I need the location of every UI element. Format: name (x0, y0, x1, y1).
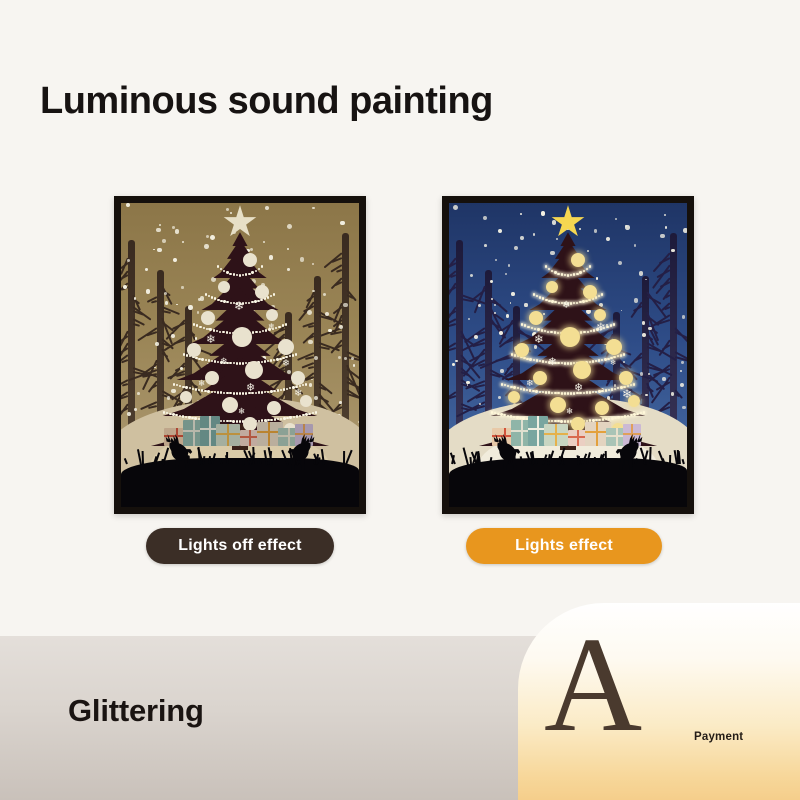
string-light (583, 270, 585, 272)
tree-bauble (606, 339, 622, 355)
string-light (261, 361, 263, 363)
snow-particle (312, 207, 314, 209)
gift-ribbon (537, 416, 539, 446)
foreground-base (121, 480, 359, 507)
payment-letter-a: A (544, 617, 642, 753)
string-light (586, 268, 588, 270)
string-light (273, 293, 275, 295)
string-light (548, 420, 550, 422)
string-light (173, 383, 175, 385)
string-light (208, 359, 210, 361)
tree-bauble (571, 417, 585, 431)
string-light (551, 300, 553, 302)
string-light (534, 328, 536, 330)
deer-silhouette (487, 428, 525, 474)
string-light (196, 324, 198, 326)
string-light (636, 413, 638, 415)
string-light (519, 417, 521, 419)
string-light (526, 389, 528, 391)
string-light (598, 295, 600, 297)
string-light (226, 392, 228, 394)
string-light (554, 420, 556, 422)
string-light (179, 385, 181, 387)
string-light (633, 383, 635, 385)
snow-particle (660, 234, 664, 238)
string-light (251, 301, 253, 303)
tree-bauble (508, 391, 520, 403)
string-light (613, 323, 615, 325)
string-light (172, 413, 174, 415)
string-light (598, 359, 600, 361)
string-light (185, 416, 187, 418)
string-light (582, 300, 584, 302)
snow-particle (682, 406, 685, 409)
gift-ribbon (555, 424, 557, 446)
grass-blade (605, 451, 607, 464)
footer-band-label: Glittering (68, 693, 204, 729)
string-light (623, 353, 625, 355)
tree-bauble (222, 397, 238, 413)
string-light (511, 353, 513, 355)
string-light (500, 413, 502, 415)
tree-bauble (583, 285, 597, 299)
string-light (305, 383, 307, 385)
string-light (280, 389, 282, 391)
string-light (286, 388, 288, 390)
string-light (254, 300, 256, 302)
snow-particle (671, 392, 675, 396)
string-light (604, 358, 606, 360)
tree-bauble (515, 343, 529, 357)
string-light (513, 386, 515, 388)
snowflake-icon: ❄ (268, 323, 275, 331)
snow-particle (137, 392, 140, 395)
string-light (624, 415, 626, 417)
string-light (201, 389, 203, 391)
promo-page: Luminous sound painting ❄❄❄❄❄❄❄❄❄❄ (0, 0, 800, 800)
string-light (166, 412, 168, 414)
string-light (510, 415, 512, 417)
string-light (258, 268, 260, 270)
snowflake-icon: ❄ (562, 301, 570, 311)
string-light (193, 323, 195, 325)
string-light (532, 390, 534, 392)
snow-particle (339, 401, 342, 404)
string-light (270, 295, 272, 297)
tree-bauble (533, 371, 547, 385)
string-light (273, 359, 275, 361)
string-light (554, 331, 556, 333)
string-light (608, 389, 610, 391)
string-light (229, 392, 231, 394)
string-light (278, 326, 280, 328)
string-light (223, 300, 225, 302)
gift-ribbon (268, 422, 270, 446)
string-light (640, 412, 642, 414)
string-light (557, 273, 559, 275)
string-light (230, 302, 232, 304)
string-light (222, 331, 224, 333)
string-light (557, 392, 559, 394)
string-light (598, 390, 600, 392)
string-light (273, 390, 275, 392)
string-light (226, 331, 228, 333)
string-light (589, 265, 591, 267)
string-light (548, 268, 550, 270)
string-light (214, 391, 216, 393)
string-light (315, 411, 317, 413)
snowflake-icon: ❄ (622, 389, 632, 401)
string-light (276, 358, 278, 360)
string-light (206, 328, 208, 330)
snow-particle (344, 357, 347, 360)
snow-particle (683, 228, 687, 233)
snowflake-icon: ❄ (526, 379, 534, 388)
snowflake-icon: ❄ (282, 359, 290, 369)
snowflake-icon: ❄ (596, 323, 606, 335)
string-light (529, 358, 531, 360)
string-light (274, 418, 276, 420)
string-light (289, 387, 291, 389)
tree-bauble (573, 361, 591, 379)
tree-bauble (243, 253, 257, 267)
artwork-lights-off: ❄❄❄❄❄❄❄❄❄❄ (121, 203, 359, 507)
string-light (602, 418, 604, 420)
string-light (504, 384, 506, 386)
string-light (523, 388, 525, 390)
string-light (533, 293, 535, 295)
string-light (205, 359, 207, 361)
string-light (585, 300, 587, 302)
string-light (176, 384, 178, 386)
string-light (611, 417, 613, 419)
tree-bauble (201, 311, 215, 325)
string-light (220, 420, 222, 422)
string-light (533, 359, 535, 361)
string-light (289, 416, 291, 418)
string-light (548, 300, 550, 302)
string-light (299, 415, 301, 417)
string-light (305, 413, 307, 415)
string-light (516, 416, 518, 418)
string-light (539, 296, 541, 298)
string-light (494, 412, 496, 414)
string-light (226, 301, 228, 303)
grass-blade (237, 459, 239, 465)
tree-bauble (594, 309, 606, 321)
string-light (280, 418, 282, 420)
string-light (536, 295, 538, 297)
tree-bauble (278, 339, 294, 355)
string-light (255, 270, 257, 272)
gift-box (544, 424, 568, 446)
string-light (191, 417, 193, 419)
string-light (282, 324, 284, 326)
gift-ribbon (216, 433, 240, 435)
string-light (211, 296, 213, 298)
string-light (601, 293, 603, 295)
string-light (497, 413, 499, 415)
string-light (608, 418, 610, 420)
snow-particle (466, 381, 470, 385)
tree-bauble (291, 371, 305, 385)
string-light (211, 391, 213, 393)
string-light (299, 385, 301, 387)
string-light (195, 388, 197, 390)
string-light (277, 418, 279, 420)
payment-panel[interactable]: A Payment (518, 603, 800, 800)
string-light (198, 358, 200, 360)
string-light (537, 328, 539, 330)
string-light (592, 360, 594, 362)
string-light (627, 415, 629, 417)
string-light (203, 327, 205, 329)
string-light (510, 386, 512, 388)
string-light (507, 385, 509, 387)
string-light (633, 413, 635, 415)
snow-particle (520, 213, 522, 215)
string-light (523, 357, 525, 359)
snow-particle (340, 221, 344, 225)
tree-bauble (529, 311, 543, 325)
string-light (259, 331, 261, 333)
string-light (586, 391, 588, 393)
christmas-tree: ❄❄❄❄❄❄❄❄❄❄ (150, 231, 330, 446)
string-light (296, 415, 298, 417)
string-light (605, 418, 607, 420)
payment-label: Payment (694, 731, 743, 743)
snow-particle (123, 285, 127, 289)
string-light (277, 389, 279, 391)
string-light (550, 331, 552, 333)
string-light (503, 414, 505, 416)
string-light (614, 417, 616, 419)
deer-silhouette (283, 428, 321, 474)
string-light (257, 300, 259, 302)
string-light (513, 416, 515, 418)
christmas-tree: ❄❄❄❄❄❄❄❄❄❄ (478, 231, 658, 446)
string-light (542, 297, 544, 299)
snow-particle (339, 325, 343, 329)
string-light (522, 417, 524, 419)
string-light (605, 389, 607, 391)
string-light (275, 327, 277, 329)
string-light (520, 388, 522, 390)
string-light (545, 299, 547, 301)
string-light (255, 331, 257, 333)
string-light (308, 413, 310, 415)
string-light (258, 391, 260, 393)
string-light (182, 415, 184, 417)
artwork-lights-on: ❄❄❄❄❄❄❄❄❄❄ (449, 203, 687, 507)
string-light (194, 417, 196, 419)
string-light (587, 331, 589, 333)
string-light (270, 359, 272, 361)
string-light (614, 388, 616, 390)
tree-bauble (571, 253, 585, 267)
string-light (561, 273, 563, 275)
preview-card-lights-on[interactable]: ❄❄❄❄❄❄❄❄❄❄ (442, 196, 694, 514)
string-light (208, 295, 210, 297)
string-light (229, 420, 231, 422)
gift-box (216, 424, 240, 446)
string-light (295, 353, 297, 355)
string-light (229, 273, 231, 275)
string-light (491, 411, 493, 413)
snowflake-icon: ❄ (206, 335, 216, 347)
snow-particle (665, 226, 668, 229)
string-light (209, 328, 211, 330)
string-light (611, 388, 613, 390)
snowflake-icon: ❄ (548, 357, 557, 368)
snowflake-icon: ❄ (294, 389, 302, 399)
tree-bauble (560, 327, 580, 347)
snow-particle (680, 370, 682, 372)
tree-bauble (595, 401, 609, 415)
string-light (220, 268, 222, 270)
string-light (558, 302, 560, 304)
string-light (270, 419, 272, 421)
string-light (183, 353, 185, 355)
string-light (630, 414, 632, 416)
snow-particle (541, 211, 546, 216)
string-light (610, 324, 612, 326)
tree-bauble (232, 327, 252, 347)
string-light (576, 273, 578, 275)
string-light (524, 324, 526, 326)
string-light (289, 355, 291, 357)
string-light (621, 416, 623, 418)
string-light (185, 386, 187, 388)
tree-bauble (255, 285, 269, 299)
string-light (539, 391, 541, 393)
string-light (601, 359, 603, 361)
snowflake-icon: ❄ (246, 383, 255, 394)
string-light (517, 387, 519, 389)
snowflake-icon: ❄ (234, 301, 244, 313)
string-light (554, 301, 556, 303)
foreground-base (449, 480, 687, 507)
string-light (529, 389, 531, 391)
string-light (270, 390, 272, 392)
string-light (229, 362, 231, 364)
string-light (179, 415, 181, 417)
snow-particle (455, 360, 457, 362)
string-light (312, 412, 314, 414)
string-light (606, 326, 608, 328)
string-light (220, 300, 222, 302)
tree-bauble (218, 281, 230, 293)
snowflake-icon: ❄ (574, 383, 583, 394)
tree-bauble (205, 371, 219, 385)
string-light (195, 357, 197, 359)
snow-particle (287, 224, 292, 229)
snowflake-icon: ❄ (238, 407, 245, 415)
string-light (579, 301, 581, 303)
snowflake-icon: ❄ (610, 359, 616, 366)
string-light (201, 358, 203, 360)
snow-particle (134, 408, 137, 411)
tree-bauble (245, 361, 263, 379)
string-light (557, 420, 559, 422)
string-light (589, 361, 591, 363)
snow-particle (625, 225, 630, 230)
string-light (542, 360, 544, 362)
string-light (248, 273, 250, 275)
string-light (542, 391, 544, 393)
string-light (545, 265, 547, 267)
string-light (617, 355, 619, 357)
snow-particle (579, 228, 581, 230)
string-light (293, 416, 295, 418)
string-light (554, 392, 556, 394)
grass-blade (257, 459, 259, 465)
string-light (285, 323, 287, 325)
tree-bauble (619, 371, 633, 385)
tree-bauble (266, 309, 278, 321)
string-light (501, 383, 503, 385)
caption-lights-on-button[interactable]: Lights effect (466, 528, 662, 564)
tree-bauble (267, 401, 281, 415)
string-light (620, 354, 622, 356)
string-light (261, 265, 263, 267)
tree-bauble (243, 417, 257, 431)
string-light (169, 413, 171, 415)
string-light (302, 414, 304, 416)
snow-particle (159, 224, 161, 226)
string-light (531, 327, 533, 329)
string-light (264, 360, 266, 362)
string-light (233, 273, 235, 275)
string-light (643, 411, 645, 413)
string-light (199, 326, 201, 328)
string-light (217, 265, 219, 267)
string-light (283, 388, 285, 390)
snowflake-icon: ❄ (534, 335, 543, 346)
string-light (205, 293, 207, 295)
snowflake-icon: ❄ (220, 357, 227, 366)
string-light (207, 390, 209, 392)
string-light (214, 360, 216, 362)
string-light (286, 417, 288, 419)
string-light (617, 387, 619, 389)
snow-particle (552, 220, 556, 224)
tree-bauble (187, 343, 201, 357)
page-title: Luminous sound painting (40, 80, 493, 123)
string-light (226, 420, 228, 422)
preview-card-lights-off[interactable]: ❄❄❄❄❄❄❄❄❄❄ (114, 196, 366, 514)
string-light (204, 390, 206, 392)
tree-bauble (546, 281, 558, 293)
snowflake-icon: ❄ (566, 407, 573, 416)
string-light (302, 384, 304, 386)
string-light (182, 386, 184, 388)
string-light (535, 390, 537, 392)
gift-ribbon (544, 433, 568, 435)
string-light (188, 416, 190, 418)
caption-lights-off-button[interactable]: Lights off effect (146, 528, 334, 564)
snow-particle (682, 315, 686, 319)
string-light (283, 417, 285, 419)
string-light (214, 297, 216, 299)
deer-silhouette (159, 428, 197, 474)
snowflake-icon: ❄ (198, 379, 205, 387)
string-light (175, 414, 177, 416)
string-light (521, 323, 523, 325)
gift-ribbon (596, 422, 598, 446)
gift-ribbon (227, 424, 229, 446)
snow-particle (172, 226, 175, 229)
